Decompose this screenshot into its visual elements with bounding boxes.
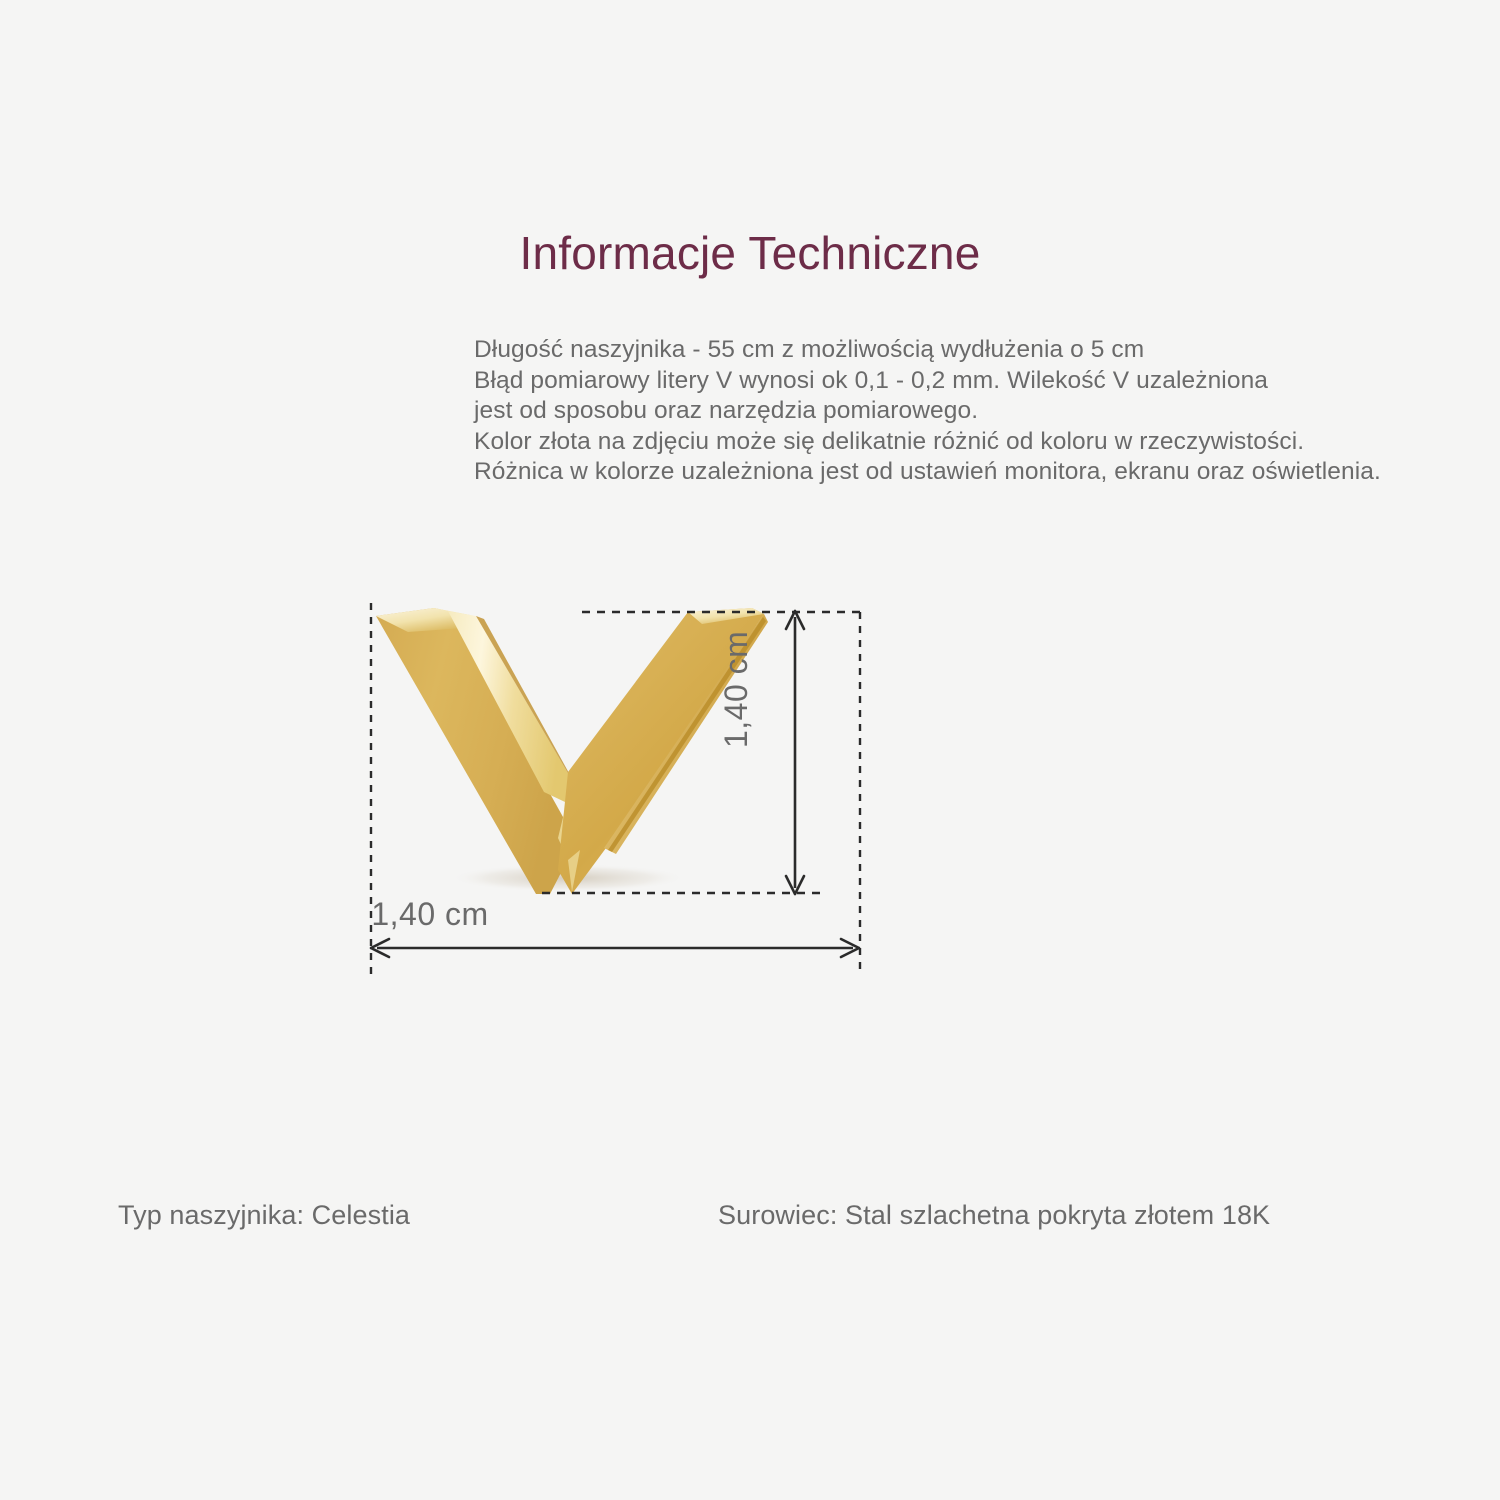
necklace-type-label: Typ naszyjnika: Celestia <box>118 1200 410 1231</box>
arrowhead-down <box>786 876 804 894</box>
spec-line-1: Długość naszyjnika - 55 cm z możliwością… <box>474 335 1434 366</box>
product-dimension-figure <box>350 590 910 1000</box>
spec-line-4: Kolor złota na zdjęciu może się delikatn… <box>474 427 1434 458</box>
dimension-label-height: 1,40 cm <box>718 631 755 748</box>
product-attributes-row: Typ naszyjnika: Celestia Surowiec: Stal … <box>0 1200 1500 1240</box>
spec-line-5: Różnica w kolorze uzależniona jest od us… <box>474 457 1434 488</box>
spec-line-3: jest od sposobu oraz narzędzia pomiarowe… <box>474 396 1434 427</box>
dimension-label-width: 1,40 cm <box>0 896 860 933</box>
page-title: Informacje Techniczne <box>0 227 1500 280</box>
product-photo <box>372 602 772 894</box>
material-label: Surowiec: Stal szlachetna pokryta złotem… <box>718 1200 1270 1231</box>
technical-info-page: Informacje Techniczne Długość naszyjnika… <box>0 0 1500 1500</box>
arrowhead-left <box>371 939 389 957</box>
arrowhead-up <box>786 611 804 629</box>
specifications-text: Długość naszyjnika - 55 cm z możliwością… <box>474 335 1434 488</box>
arrowhead-right <box>841 939 859 957</box>
gold-v-pendant-icon <box>372 602 772 894</box>
spec-line-2: Błąd pomiarowy litery V wynosi ok 0,1 - … <box>474 366 1434 397</box>
